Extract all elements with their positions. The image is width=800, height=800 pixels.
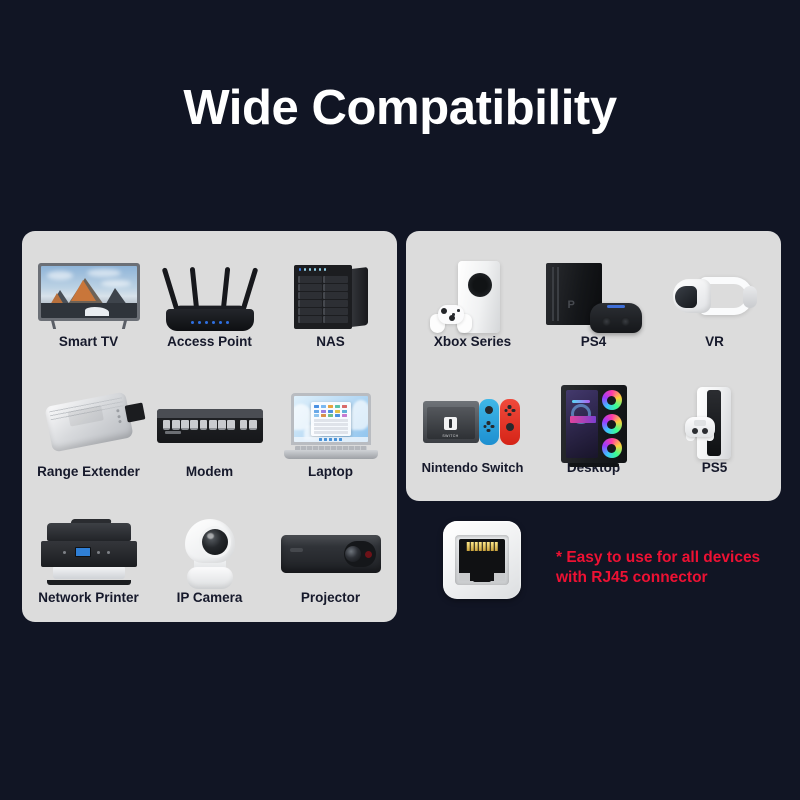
switch-brand-text: SWITCH [442, 434, 458, 438]
rj45-note: * Easy to use for all devices with RJ45 … [556, 548, 786, 588]
network-devices-panel: Smart TV Access Point [22, 231, 397, 622]
device-card-network-printer[interactable]: Network Printer [30, 513, 147, 605]
device-label: Xbox Series [414, 335, 531, 349]
device-card-ps4[interactable]: P PS4 [535, 257, 652, 349]
nas-storage-icon [272, 257, 389, 335]
nintendo-switch-icon: SWITCH [414, 383, 531, 461]
ps4-console-icon: P [535, 257, 652, 335]
vr-headset-icon [656, 257, 773, 335]
projector-icon [272, 513, 389, 591]
device-label: Smart TV [30, 335, 147, 349]
modem-switch-icon [151, 387, 268, 465]
page-title: Wide Compatibility [0, 80, 800, 136]
device-label: Laptop [272, 465, 389, 479]
device-label: NAS [272, 335, 389, 349]
device-card-nas[interactable]: NAS [272, 257, 389, 349]
rj45-connector-icon [443, 521, 521, 599]
device-label: Network Printer [30, 591, 147, 605]
device-card-range-extender[interactable]: Range Extender [30, 387, 147, 479]
rj45-note-line1: * Easy to use for all devices [556, 548, 786, 568]
smart-tv-icon [30, 257, 147, 335]
network-devices-grid: Smart TV Access Point [22, 231, 397, 622]
device-card-smart-tv[interactable]: Smart TV [30, 257, 147, 349]
device-label: PS5 [656, 461, 773, 475]
device-label: VR [656, 335, 773, 349]
device-label: Projector [272, 591, 389, 605]
device-card-projector[interactable]: Projector [272, 513, 389, 605]
printer-icon [30, 513, 147, 591]
device-card-ps5[interactable]: PS5 [656, 383, 773, 475]
gaming-devices-grid: Xbox Series P [406, 231, 781, 501]
range-extender-icon [30, 387, 147, 465]
device-card-access-point[interactable]: Access Point [151, 257, 268, 349]
device-label: IP Camera [151, 591, 268, 605]
desktop-pc-icon [535, 383, 652, 461]
device-card-nintendo-switch[interactable]: SWITCH [414, 383, 531, 474]
gaming-devices-panel: Xbox Series P [406, 231, 781, 501]
xbox-console-icon [414, 257, 531, 335]
infographic-root: Wide Compatibility [0, 0, 800, 800]
device-card-laptop[interactable]: Laptop [272, 387, 389, 479]
rj45-note-line2: with RJ45 connector [556, 568, 786, 588]
device-label: Modem [151, 465, 268, 479]
device-card-vr[interactable]: VR [656, 257, 773, 349]
device-label: PS4 [535, 335, 652, 349]
wifi-router-icon [151, 257, 268, 335]
device-card-modem[interactable]: Modem [151, 387, 268, 479]
ps5-console-icon [656, 383, 773, 461]
device-label: Range Extender [30, 465, 147, 479]
device-card-xbox-series[interactable]: Xbox Series [414, 257, 531, 349]
laptop-icon [272, 387, 389, 465]
device-label: Access Point [151, 335, 268, 349]
device-card-desktop[interactable]: Desktop [535, 383, 652, 475]
ip-camera-icon [151, 513, 268, 591]
device-label: Nintendo Switch [414, 461, 531, 474]
device-card-ip-camera[interactable]: IP Camera [151, 513, 268, 605]
